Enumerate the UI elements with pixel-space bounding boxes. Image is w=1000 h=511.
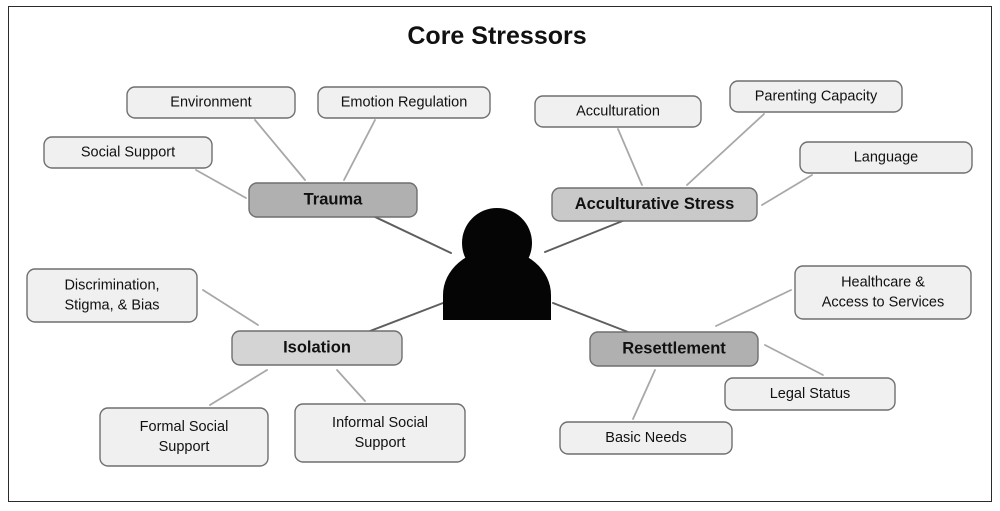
connector-basic-needs (633, 370, 655, 419)
spoke-resettlement (553, 303, 628, 332)
node-formal-social-support-label: Support (159, 439, 210, 455)
node-discrimination-stigma-bias-label: Discrimination, (64, 277, 159, 293)
spoke-trauma (371, 215, 451, 253)
page-title: Core Stressors (407, 22, 586, 50)
node-healthcare-access-to-services-label: Access to Services (822, 294, 945, 310)
hub-trauma[interactable]: Trauma (249, 183, 417, 217)
node-emotion-regulation-label: Emotion Regulation (341, 94, 468, 110)
connector-discrimination-stigma-bias (203, 290, 258, 325)
hub-acculturative-stress-label: Acculturative Stress (575, 195, 735, 213)
node-informal-social-support[interactable]: Informal SocialSupport (295, 404, 465, 462)
hub-isolation[interactable]: Isolation (232, 331, 402, 365)
person-body-icon (443, 249, 551, 320)
node-acculturation-label: Acculturation (576, 103, 660, 119)
node-language-label: Language (854, 149, 919, 165)
node-basic-needs[interactable]: Basic Needs (560, 422, 732, 454)
spoke-acculturative-stress (545, 220, 625, 252)
node-formal-social-support[interactable]: Formal SocialSupport (100, 408, 268, 466)
hub-trauma-label: Trauma (304, 190, 364, 208)
diagram-canvas: EnvironmentEmotion RegulationSocial Supp… (0, 0, 1000, 511)
node-parenting-capacity[interactable]: Parenting Capacity (730, 81, 902, 112)
node-healthcare-access-to-services-label: Healthcare & (841, 274, 925, 290)
connector-healthcare-access-to-services (716, 290, 791, 326)
node-informal-social-support-label: Informal Social (332, 415, 428, 431)
node-healthcare-access-to-services[interactable]: Healthcare &Access to Services (795, 266, 971, 319)
connector-informal-social-support (337, 370, 365, 401)
hub-resettlement-label: Resettlement (622, 339, 726, 357)
node-language[interactable]: Language (800, 142, 972, 173)
node-social-support-label: Social Support (81, 144, 175, 160)
hub-acculturative-stress[interactable]: Acculturative Stress (552, 188, 757, 221)
node-acculturation[interactable]: Acculturation (535, 96, 701, 127)
node-informal-social-support-box[interactable] (295, 404, 465, 462)
node-emotion-regulation[interactable]: Emotion Regulation (318, 87, 490, 118)
node-basic-needs-label: Basic Needs (605, 430, 686, 446)
person-icon (443, 208, 551, 320)
node-legal-status[interactable]: Legal Status (725, 378, 895, 410)
connector-social-support (196, 170, 246, 198)
node-environment[interactable]: Environment (127, 87, 295, 118)
node-environment-label: Environment (170, 94, 251, 110)
node-informal-social-support-label: Support (355, 435, 406, 451)
connector-formal-social-support (210, 370, 267, 405)
node-discrimination-stigma-bias-label: Stigma, & Bias (64, 297, 159, 313)
node-parenting-capacity-label: Parenting Capacity (755, 88, 878, 104)
node-discrimination-stigma-bias[interactable]: Discrimination,Stigma, & Bias (27, 269, 197, 322)
node-social-support[interactable]: Social Support (44, 137, 212, 168)
connector-emotion-regulation (344, 120, 375, 180)
hub-resettlement[interactable]: Resettlement (590, 332, 758, 366)
spoke-isolation (370, 303, 443, 331)
node-formal-social-support-label: Formal Social (140, 419, 229, 435)
connector-language (762, 175, 812, 205)
node-formal-social-support-box[interactable] (100, 408, 268, 466)
core-stressors-diagram: EnvironmentEmotion RegulationSocial Supp… (0, 0, 1000, 511)
connector-legal-status (765, 345, 823, 375)
node-legal-status-label: Legal Status (770, 386, 851, 402)
connector-environment (255, 120, 305, 180)
connector-acculturation (618, 129, 642, 185)
hub-isolation-label: Isolation (283, 338, 351, 356)
